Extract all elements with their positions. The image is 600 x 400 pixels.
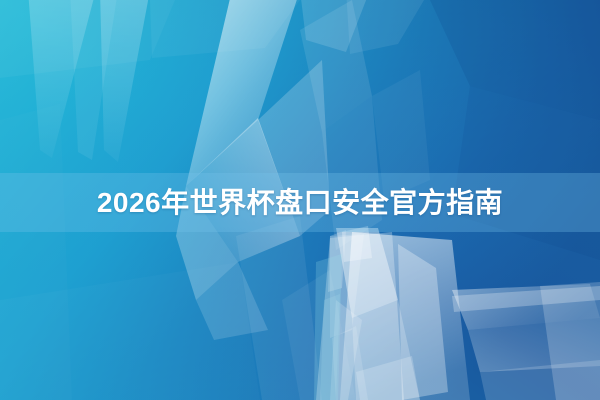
title-container: 2026年世界杯盘口安全官方指南 (0, 173, 600, 232)
page-title: 2026年世界杯盘口安全官方指南 (97, 189, 503, 217)
promo-banner: 2026年世界杯盘口安全官方指南 (0, 0, 600, 400)
